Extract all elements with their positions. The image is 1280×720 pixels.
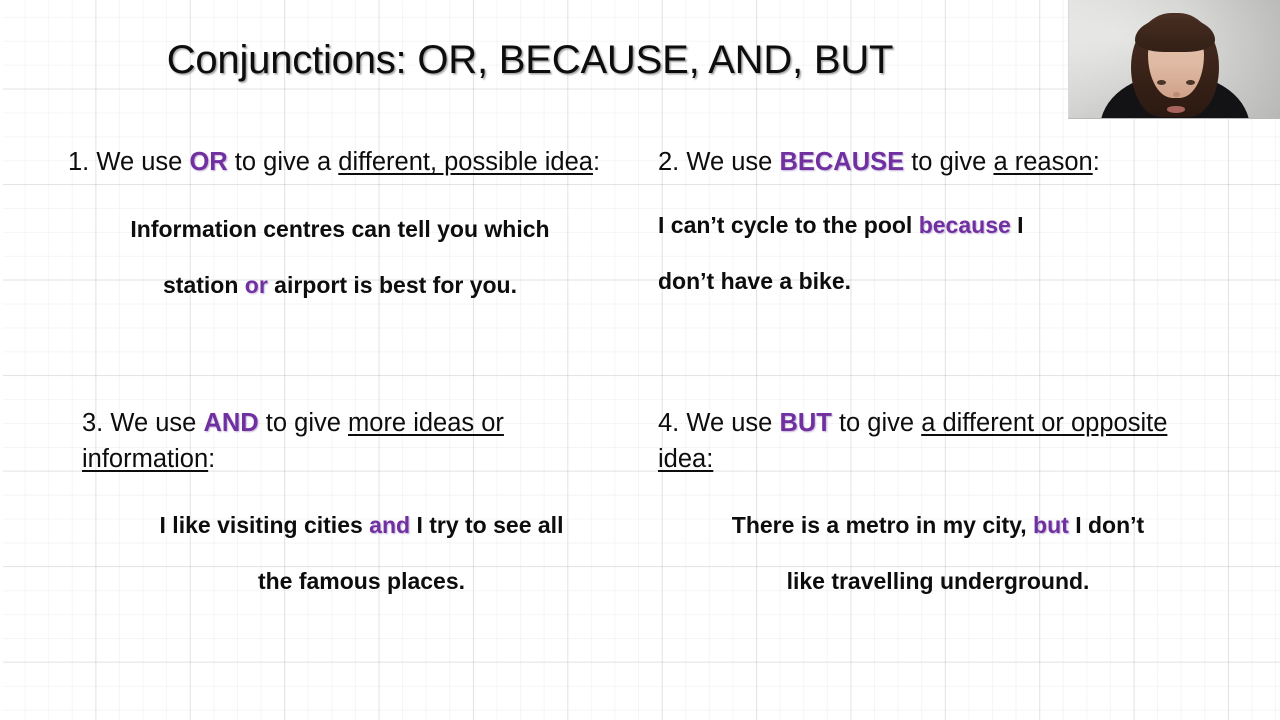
- example-line-2: don’t have a bike.: [658, 268, 851, 294]
- example-line-2: like travelling underground.: [787, 568, 1090, 594]
- rule-tail: :: [208, 445, 215, 473]
- rule-text-or: 1. We use OR to give a different, possib…: [68, 144, 628, 180]
- presenter-webcam-overlay[interactable]: [1068, 0, 1280, 119]
- example-line-2-pre: station: [163, 272, 245, 298]
- example-line-1-pre: I can’t cycle to the pool: [658, 212, 919, 238]
- example-line-1-post: I try to see all: [410, 512, 563, 538]
- example-line-1-pre: There is a metro in my city,: [732, 512, 1033, 538]
- example-sentence-because: I can’t cycle to the pool because I don’…: [658, 198, 1218, 309]
- rule-underlined-because: a reason: [993, 148, 1092, 176]
- example-line-1-pre: I like visiting cities: [160, 512, 370, 538]
- presenter-fringe: [1135, 18, 1215, 52]
- example-sentence-but: There is a metro in my city, but I don’t…: [658, 498, 1218, 609]
- presenter-mouth: [1167, 106, 1185, 113]
- rule-text-because: 2. We use BECAUSE to give a reason:: [658, 144, 1218, 180]
- presenter-nose: [1173, 92, 1180, 97]
- example-line-1: Information centres can tell you which: [130, 216, 549, 242]
- rule-lead: We use: [686, 409, 779, 437]
- presenter-eye-left: [1157, 80, 1166, 85]
- keyword-or: OR: [189, 148, 227, 176]
- keyword-because: BECAUSE: [779, 148, 904, 176]
- example-line-1-post: I: [1011, 212, 1024, 238]
- keyword-and-inline: and: [369, 512, 410, 538]
- rule-mid: to give: [832, 409, 921, 437]
- rule-tail: :: [593, 148, 600, 176]
- rule-number: 1.: [68, 148, 89, 176]
- rule-text-but: 4. We use BUT to give a different or opp…: [658, 405, 1218, 478]
- rule-lead: We use: [110, 409, 203, 437]
- keyword-but: BUT: [779, 409, 831, 437]
- page-title: Conjunctions: OR, BECAUSE, AND, BUT: [0, 38, 1060, 83]
- keyword-but-inline: but: [1033, 512, 1069, 538]
- example-sentence-and: I like visiting cities and I try to see …: [82, 498, 627, 609]
- rule-lead: We use: [96, 148, 189, 176]
- rule-number: 2.: [658, 148, 679, 176]
- example-line-1-post: I don’t: [1069, 512, 1144, 538]
- example-line-2-post: airport is best for you.: [268, 272, 517, 298]
- rule-underlined-or: different, possible idea: [338, 148, 593, 176]
- rule-block-and: 3. We use AND to give more ideas or info…: [82, 405, 627, 609]
- keyword-because-inline: because: [919, 212, 1011, 238]
- rule-text-and: 3. We use AND to give more ideas or info…: [82, 405, 627, 478]
- example-line-2: the famous places.: [258, 568, 465, 594]
- rule-tail: :: [1093, 148, 1100, 176]
- rule-block-or: 1. We use OR to give a different, possib…: [68, 144, 628, 314]
- rule-mid: to give: [904, 148, 993, 176]
- rule-block-but: 4. We use BUT to give a different or opp…: [658, 405, 1218, 609]
- keyword-and: AND: [203, 409, 258, 437]
- rule-block-because: 2. We use BECAUSE to give a reason: I ca…: [658, 144, 1218, 310]
- presenter-eye-right: [1186, 80, 1195, 85]
- rule-lead: We use: [686, 148, 779, 176]
- keyword-or-inline: or: [245, 272, 268, 298]
- rule-mid: to give a: [228, 148, 339, 176]
- rule-number: 3.: [82, 409, 103, 437]
- rule-mid: to give: [259, 409, 348, 437]
- slide-canvas: Conjunctions: OR, BECAUSE, AND, BUT 1. W…: [0, 0, 1280, 720]
- example-sentence-or: Information centres can tell you which s…: [68, 202, 628, 313]
- rule-number: 4.: [658, 409, 679, 437]
